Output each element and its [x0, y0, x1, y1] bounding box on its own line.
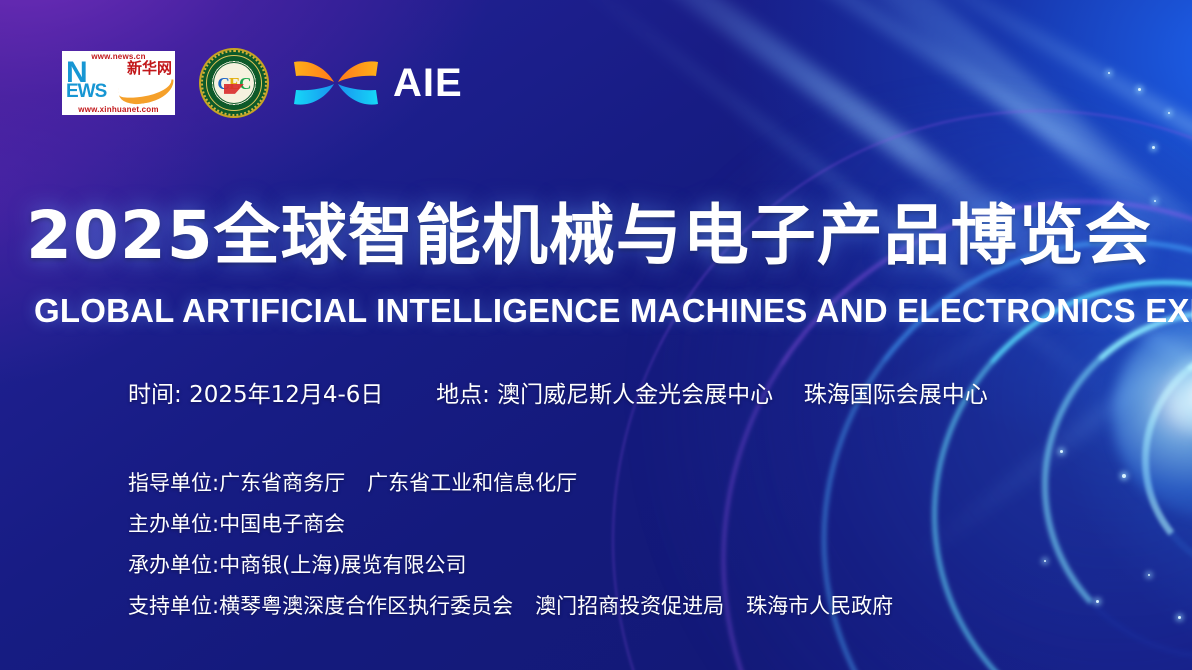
time-label: 时间: — [128, 382, 182, 408]
org-label: 承办单位: — [128, 553, 219, 577]
sponsor-logo-row: www.news.cn NEWS 新华网 www.xinhuanet.com C… — [62, 48, 463, 118]
xinhua-chinese-name: 新华网 — [126, 61, 172, 76]
org-value-2: 澳门招商投资促进局 — [535, 594, 724, 618]
organization-list: 指导单位:广东省商务厅广东省工业和信息化厅 主办单位:中国电子商会 承办单位:中… — [128, 470, 893, 619]
org-value-3: 珠海市人民政府 — [746, 594, 893, 618]
xinhua-mark: NEWS 新华网 — [64, 61, 173, 105]
expo-poster: www.news.cn NEWS 新华网 www.xinhuanet.com C… — [0, 0, 1192, 670]
xinhua-swoosh-icon — [118, 79, 175, 107]
place-value-1: 澳门威尼斯人金光会展中心 — [497, 382, 773, 408]
org-value: 广东省商务厅 — [219, 471, 345, 495]
org-value: 横琴粤澳深度合作区执行委员会 — [219, 594, 513, 618]
aie-logo[interactable]: AIE — [293, 55, 463, 111]
org-label: 指导单位: — [128, 471, 219, 495]
event-time-and-place: 时间: 2025年12月4-6日 地点: 澳门威尼斯人金光会展中心 珠海国际会展… — [128, 380, 988, 410]
page-title-english: GLOBAL ARTIFICIAL INTELLIGENCE MACHINES … — [34, 291, 1184, 331]
aie-wordmark: AIE — [393, 63, 463, 103]
xinhuanet-logo[interactable]: www.news.cn NEWS 新华网 www.xinhuanet.com — [62, 51, 175, 115]
place-label: 地点: — [436, 382, 490, 408]
cecc-center: CEC — [213, 62, 255, 104]
time-value: 2025年12月4-6日 — [189, 382, 383, 408]
organization-row-guidance: 指导单位:广东省商务厅广东省工业和信息化厅 — [128, 470, 893, 496]
org-value: 中国电子商会 — [219, 512, 345, 536]
organization-row-support: 支持单位:横琴粤澳深度合作区执行委员会澳门招商投资促进局珠海市人民政府 — [128, 593, 893, 619]
org-label: 主办单位: — [128, 512, 219, 536]
page-title-chinese: 2025全球智能机械与电子产品博览会 — [26, 196, 1176, 276]
org-value-2: 广东省工业和信息化厅 — [367, 471, 577, 495]
organization-row-host: 主办单位:中国电子商会 — [128, 511, 893, 537]
organization-row-organizer: 承办单位:中商银(上海)展览有限公司 — [128, 552, 893, 578]
org-label: 支持单位: — [128, 594, 219, 618]
cecc-seal-logo[interactable]: CEC — [199, 48, 269, 118]
xinhua-bottom-url: www.xinhuanet.com — [64, 105, 173, 114]
place-value-2: 珠海国际会展中心 — [804, 382, 988, 408]
org-value: 中商银(上海)展览有限公司 — [219, 553, 466, 577]
aie-butterfly-icon — [293, 55, 379, 111]
xinhua-wordmark: NEWS — [66, 60, 106, 105]
